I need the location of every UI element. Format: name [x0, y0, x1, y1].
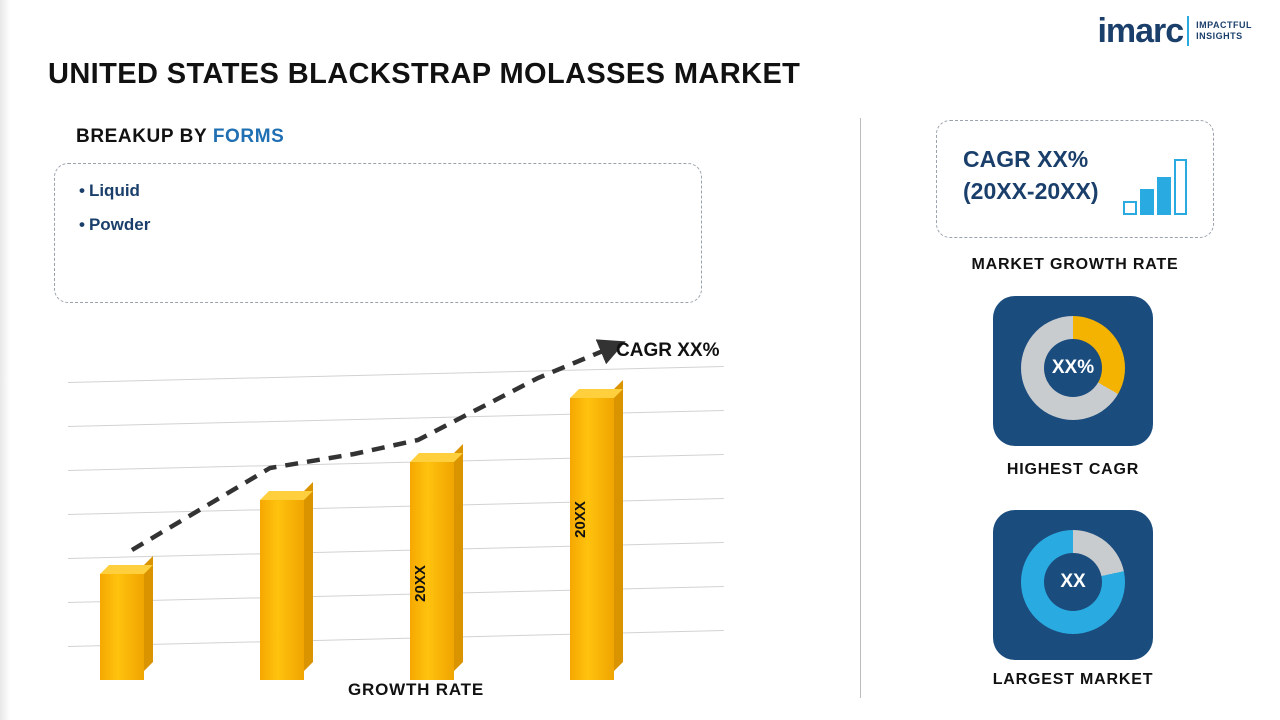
list-item-label: Powder	[89, 215, 150, 234]
largest-market-value: XX	[1044, 553, 1102, 611]
logo-tagline: IMPACTFUL INSIGHTS	[1196, 20, 1252, 42]
breakup-heading-prefix: BREAKUP BY	[76, 126, 213, 147]
bar-chart-icon-bar1	[1123, 201, 1137, 215]
bar-chart-icon	[1123, 157, 1187, 215]
chart-cagr-annotation: CAGR XX%	[616, 340, 719, 362]
market-growth-rate-card: CAGR XX% (20XX-20XX)	[936, 120, 1214, 238]
panel-divider	[860, 118, 861, 698]
chart-x-axis-label: GROWTH RATE	[348, 680, 484, 700]
breakup-heading-accent: FORMS	[213, 126, 285, 147]
bar-chart-icon-bar3	[1157, 177, 1171, 215]
market-growth-rate-line2: (20XX-20XX)	[963, 175, 1099, 207]
bullet-dot-icon: •	[79, 181, 85, 200]
highest-cagr-caption: HIGHEST CAGR	[913, 461, 1233, 479]
list-item: •Powder	[79, 212, 701, 238]
largest-market-donut: XX	[1021, 530, 1125, 634]
imarc-logo: imarc IMPACTFUL INSIGHTS	[1097, 14, 1252, 48]
largest-market-tile: XX	[993, 510, 1153, 660]
trend-line-arrow	[54, 330, 754, 680]
logo-divider	[1187, 16, 1189, 46]
logo-wordmark-text: imarc	[1097, 12, 1183, 50]
list-item: •Liquid	[79, 178, 701, 204]
left-edge-gradient	[0, 0, 10, 720]
highest-cagr-donut: XX%	[1021, 316, 1125, 420]
bullet-dot-icon: •	[79, 215, 85, 234]
market-growth-rate-line1: CAGR XX%	[963, 143, 1099, 175]
highest-cagr-value: XX%	[1044, 339, 1102, 397]
bar-chart-icon-bar2	[1140, 189, 1154, 215]
logo-wordmark: imarc	[1097, 14, 1183, 48]
growth-rate-chart: 20XX 20XX	[54, 330, 754, 680]
logo-tagline-line2: INSIGHTS	[1196, 31, 1252, 42]
largest-market-caption: LARGEST MARKET	[913, 671, 1233, 689]
page-title: UNITED STATES BLACKSTRAP MOLASSES MARKET	[48, 58, 800, 91]
market-growth-rate-caption: MARKET GROWTH RATE	[915, 256, 1235, 274]
breakup-box: •Liquid •Powder	[54, 163, 702, 303]
breakup-heading: BREAKUP BY FORMS	[76, 126, 284, 148]
bar-chart-icon-bar4	[1174, 159, 1187, 215]
market-growth-rate-value: CAGR XX% (20XX-20XX)	[963, 143, 1099, 207]
logo-tagline-line1: IMPACTFUL	[1196, 20, 1252, 31]
list-item-label: Liquid	[89, 181, 140, 200]
highest-cagr-tile: XX%	[993, 296, 1153, 446]
